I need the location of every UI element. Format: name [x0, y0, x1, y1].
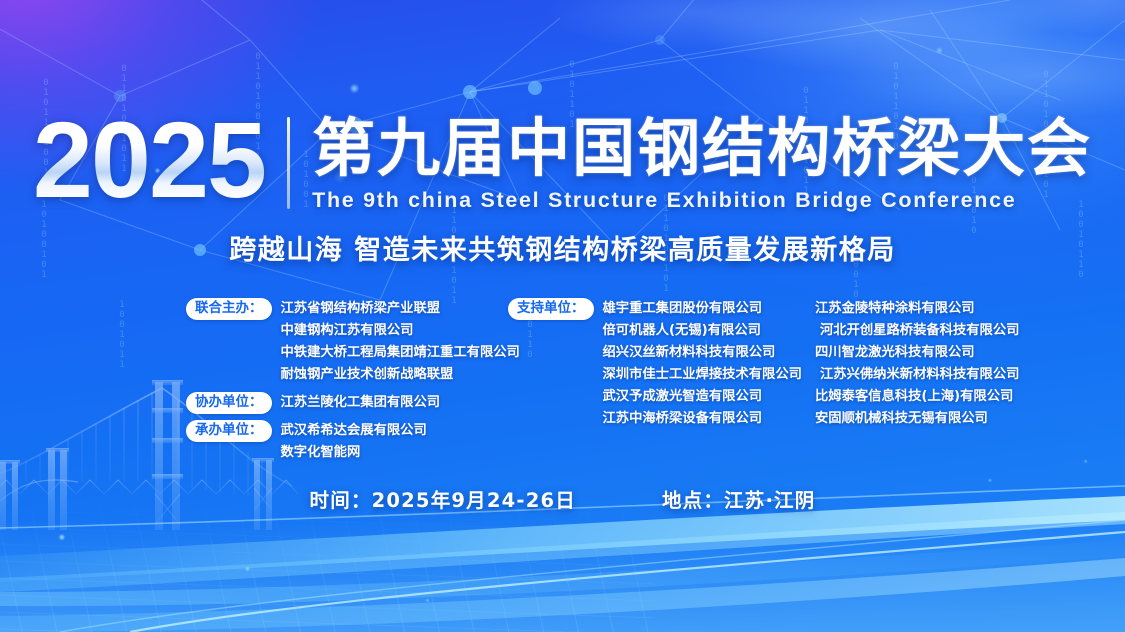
list-item: 武汉希希达会展有限公司 — [281, 420, 427, 442]
list-item: 中铁建大桥工程局集团靖江重工有限公司 — [281, 342, 520, 364]
list-item: 江苏省钢结构桥梁产业联盟 — [281, 298, 520, 320]
title-block: 第九届中国钢结构桥梁大会 The 9th china Steel Structu… — [290, 112, 1092, 213]
year-2025: 2025 — [33, 112, 287, 208]
list-item: 武汉予成激光智造有限公司 — [603, 386, 802, 408]
coorganizer-name-list: 江苏省钢结构桥梁产业联盟 中建钢构江苏有限公司 中铁建大桥工程局集团靖江重工有限… — [281, 298, 520, 386]
list-item: 江苏兴佛纳米新材料科技有限公司 — [815, 364, 1106, 386]
list-item: 比姆泰客信息科技(上海)有限公司 — [815, 386, 1106, 408]
slogan: 跨越山海 智造未来共筑钢结构桥梁高质量发展新格局 — [0, 228, 1125, 267]
label-coorganizer: 联合主办： — [186, 298, 272, 320]
event-location: 地点：江苏·江阴 — [662, 484, 816, 513]
list-item: 耐蚀钢产业技术创新战略联盟 — [281, 364, 520, 386]
organizer-group-coorganizer: 联合主办： 江苏省钢结构桥梁产业联盟 中建钢构江苏有限公司 中铁建大桥工程局集团… — [186, 298, 516, 386]
list-item: 中建钢构江苏有限公司 — [281, 320, 520, 342]
list-item: 倍可机器人(无锡)有限公司 — [603, 320, 802, 342]
organizers-middle-column: 支持单位： 雄宇重工集团股份有限公司 倍可机器人(无锡)有限公司 绍兴汉丝新材料… — [508, 298, 808, 436]
supporting-name-list-continued: 江苏金陵特种涂料有限公司 河北开创星路桥装备科技有限公司 四川智龙激光科技有限公… — [815, 298, 1106, 430]
banner-header: 2025 第九届中国钢结构桥梁大会 The 9th china Steel St… — [0, 112, 1125, 267]
list-item: 数字化智能网 — [281, 442, 427, 464]
page-title: 第九届中国钢结构桥梁大会 — [312, 112, 1092, 186]
list-item: 四川智龙激光科技有限公司 — [815, 342, 1106, 364]
list-item: 江苏中海桥梁设备有限公司 — [603, 408, 802, 430]
organizer-group-assisting: 协办单位： 江苏兰陵化工集团有限公司 — [186, 392, 516, 414]
title-row: 2025 第九届中国钢结构桥梁大会 The 9th china Steel St… — [0, 112, 1125, 213]
list-item: 河北开创星路桥装备科技有限公司 — [815, 320, 1106, 342]
undertaking-name-list: 武汉希希达会展有限公司 数字化智能网 — [281, 420, 427, 464]
list-item: 深圳市佳士工业焊接技术有限公司 — [603, 364, 802, 386]
organizers-left-column: 联合主办： 江苏省钢结构桥梁产业联盟 中建钢构江苏有限公司 中铁建大桥工程局集团… — [186, 298, 516, 470]
organizer-group-undertaking: 承办单位： 武汉希希达会展有限公司 数字化智能网 — [186, 420, 516, 464]
organizers-right-column: 江苏金陵特种涂料有限公司 河北开创星路桥装备科技有限公司 四川智龙激光科技有限公… — [806, 298, 1106, 430]
event-date: 时间：2025年9月24-26日 — [310, 484, 576, 513]
organizers-section: 联合主办： 江苏省钢结构桥梁产业联盟 中建钢构江苏有限公司 中铁建大桥工程局集团… — [0, 298, 1125, 448]
label-supporting-unit: 支持单位： — [508, 298, 594, 320]
label-undertaking-unit: 承办单位： — [186, 420, 272, 442]
conference-banner: 0101101001 110100101 01101001011 1001011… — [0, 0, 1125, 632]
list-item: 雄宇重工集团股份有限公司 — [603, 298, 802, 320]
list-item: 江苏兰陵化工集团有限公司 — [281, 392, 441, 414]
label-assisting-unit: 协办单位： — [186, 392, 272, 414]
event-details: 时间：2025年9月24-26日 地点：江苏·江阴 — [0, 484, 1125, 513]
list-item: 江苏金陵特种涂料有限公司 — [815, 298, 1106, 320]
organizer-group-supporting: 支持单位： 雄宇重工集团股份有限公司 倍可机器人(无锡)有限公司 绍兴汉丝新材料… — [508, 298, 808, 430]
supporting-name-list: 雄宇重工集团股份有限公司 倍可机器人(无锡)有限公司 绍兴汉丝新材料科技有限公司… — [603, 298, 802, 430]
assisting-name-list: 江苏兰陵化工集团有限公司 — [281, 392, 441, 414]
page-title-english: The 9th china Steel Structure Exhibition… — [312, 187, 1092, 213]
list-item: 安固顺机械科技无锡有限公司 — [815, 408, 1106, 430]
list-item: 绍兴汉丝新材料科技有限公司 — [603, 342, 802, 364]
